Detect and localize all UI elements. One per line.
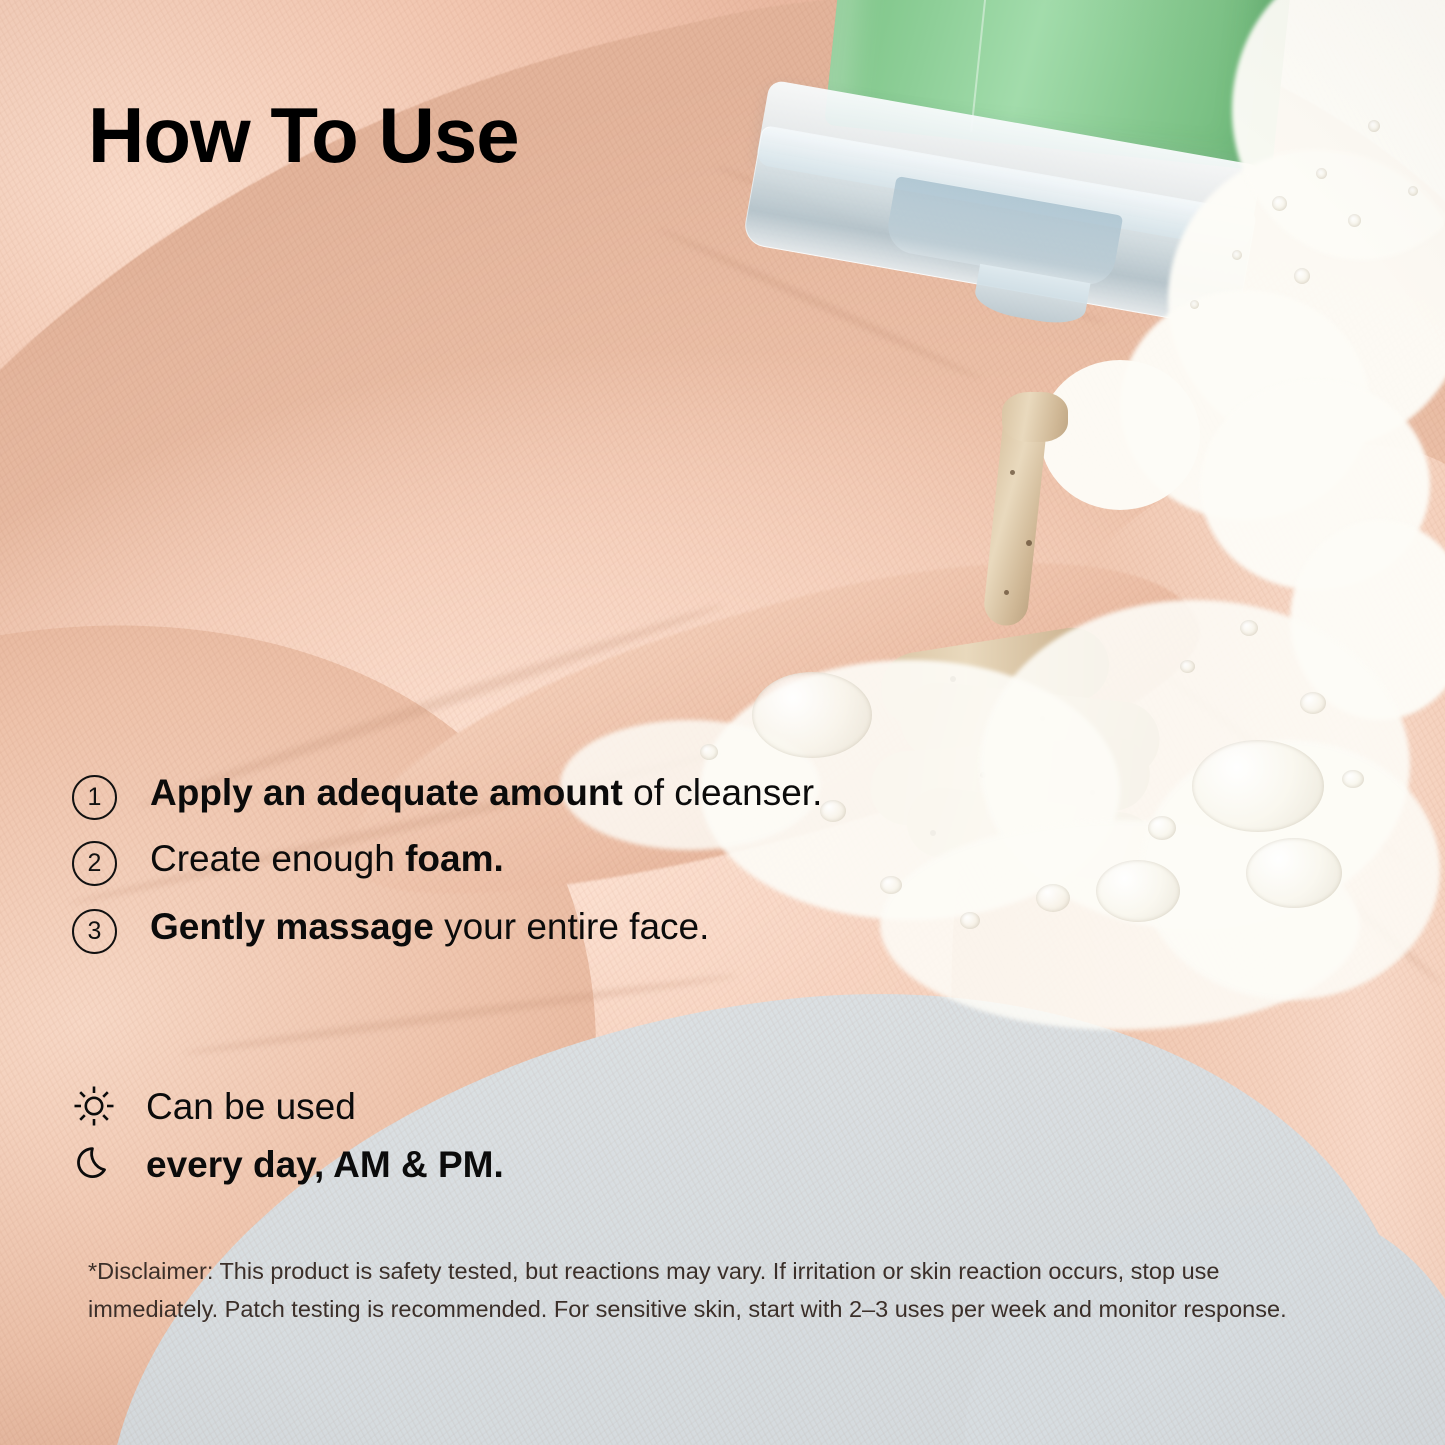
usage-row-nighttime: every day, AM & PM. xyxy=(72,1135,972,1193)
usage-text-nighttime: every day, AM & PM. xyxy=(146,1146,504,1183)
step-text-regular: Create enough xyxy=(150,838,405,879)
step-text-bold: Gently massage xyxy=(150,906,434,947)
foam-bubble xyxy=(1240,620,1258,636)
foam-bubble-large xyxy=(1192,740,1324,832)
exfoliant-speck xyxy=(1004,590,1009,595)
list-item: 3 Gently massage your entire face. xyxy=(72,904,1172,954)
foam-bubble xyxy=(1300,692,1326,714)
usage-text-daytime: Can be used xyxy=(146,1088,356,1125)
moon-icon xyxy=(72,1142,116,1186)
cleanser-gel-strand xyxy=(1002,392,1068,442)
usage-frequency: Can be used every day, AM & PM. xyxy=(72,1077,972,1193)
step-text: Apply an adequate amount of cleanser. xyxy=(150,770,822,815)
product-how-to-use-infographic: How To Use 1 Apply an adequate amount of… xyxy=(0,0,1445,1445)
foam-bubble xyxy=(1316,168,1327,179)
page-title: How To Use xyxy=(88,96,519,174)
foam-bubble xyxy=(1294,268,1310,284)
list-item: 1 Apply an adequate amount of cleanser. xyxy=(72,770,1172,820)
foam-bubble xyxy=(1348,214,1361,227)
exfoliant-speck xyxy=(1010,470,1015,475)
step-text-regular: of cleanser. xyxy=(623,772,823,813)
foam-bubble xyxy=(700,744,718,760)
step-number-circle: 3 xyxy=(72,909,117,954)
step-number-circle: 1 xyxy=(72,775,117,820)
foam-bubble xyxy=(1342,770,1364,788)
list-item: 2 Create enough foam. xyxy=(72,836,1172,886)
step-text-bold: Apply an adequate amount xyxy=(150,772,623,813)
foam-bubble xyxy=(1408,186,1418,196)
disclaimer-text: *Disclaimer: This product is safety test… xyxy=(88,1252,1288,1328)
step-text: Gently massage your entire face. xyxy=(150,904,709,949)
step-number-circle: 2 xyxy=(72,841,117,886)
foam-bubble-large xyxy=(752,672,872,758)
foam-bubble xyxy=(1180,660,1195,673)
foam-bubble-large xyxy=(1246,838,1342,908)
step-text-regular: your entire face. xyxy=(434,906,710,947)
foam-bubble xyxy=(1272,196,1287,211)
exfoliant-speck xyxy=(1026,540,1032,546)
step-text: Create enough foam. xyxy=(150,836,504,881)
steps-list: 1 Apply an adequate amount of cleanser. … xyxy=(72,770,1172,970)
usage-row-daytime: Can be used xyxy=(72,1077,972,1135)
product-photo xyxy=(0,0,1445,1445)
foam-bubble xyxy=(1190,300,1199,309)
foam-bubble xyxy=(1368,120,1380,132)
sun-icon xyxy=(72,1084,116,1128)
foam-blob xyxy=(1040,360,1200,510)
foam-bubble xyxy=(1232,250,1242,260)
step-text-bold: foam. xyxy=(405,838,504,879)
